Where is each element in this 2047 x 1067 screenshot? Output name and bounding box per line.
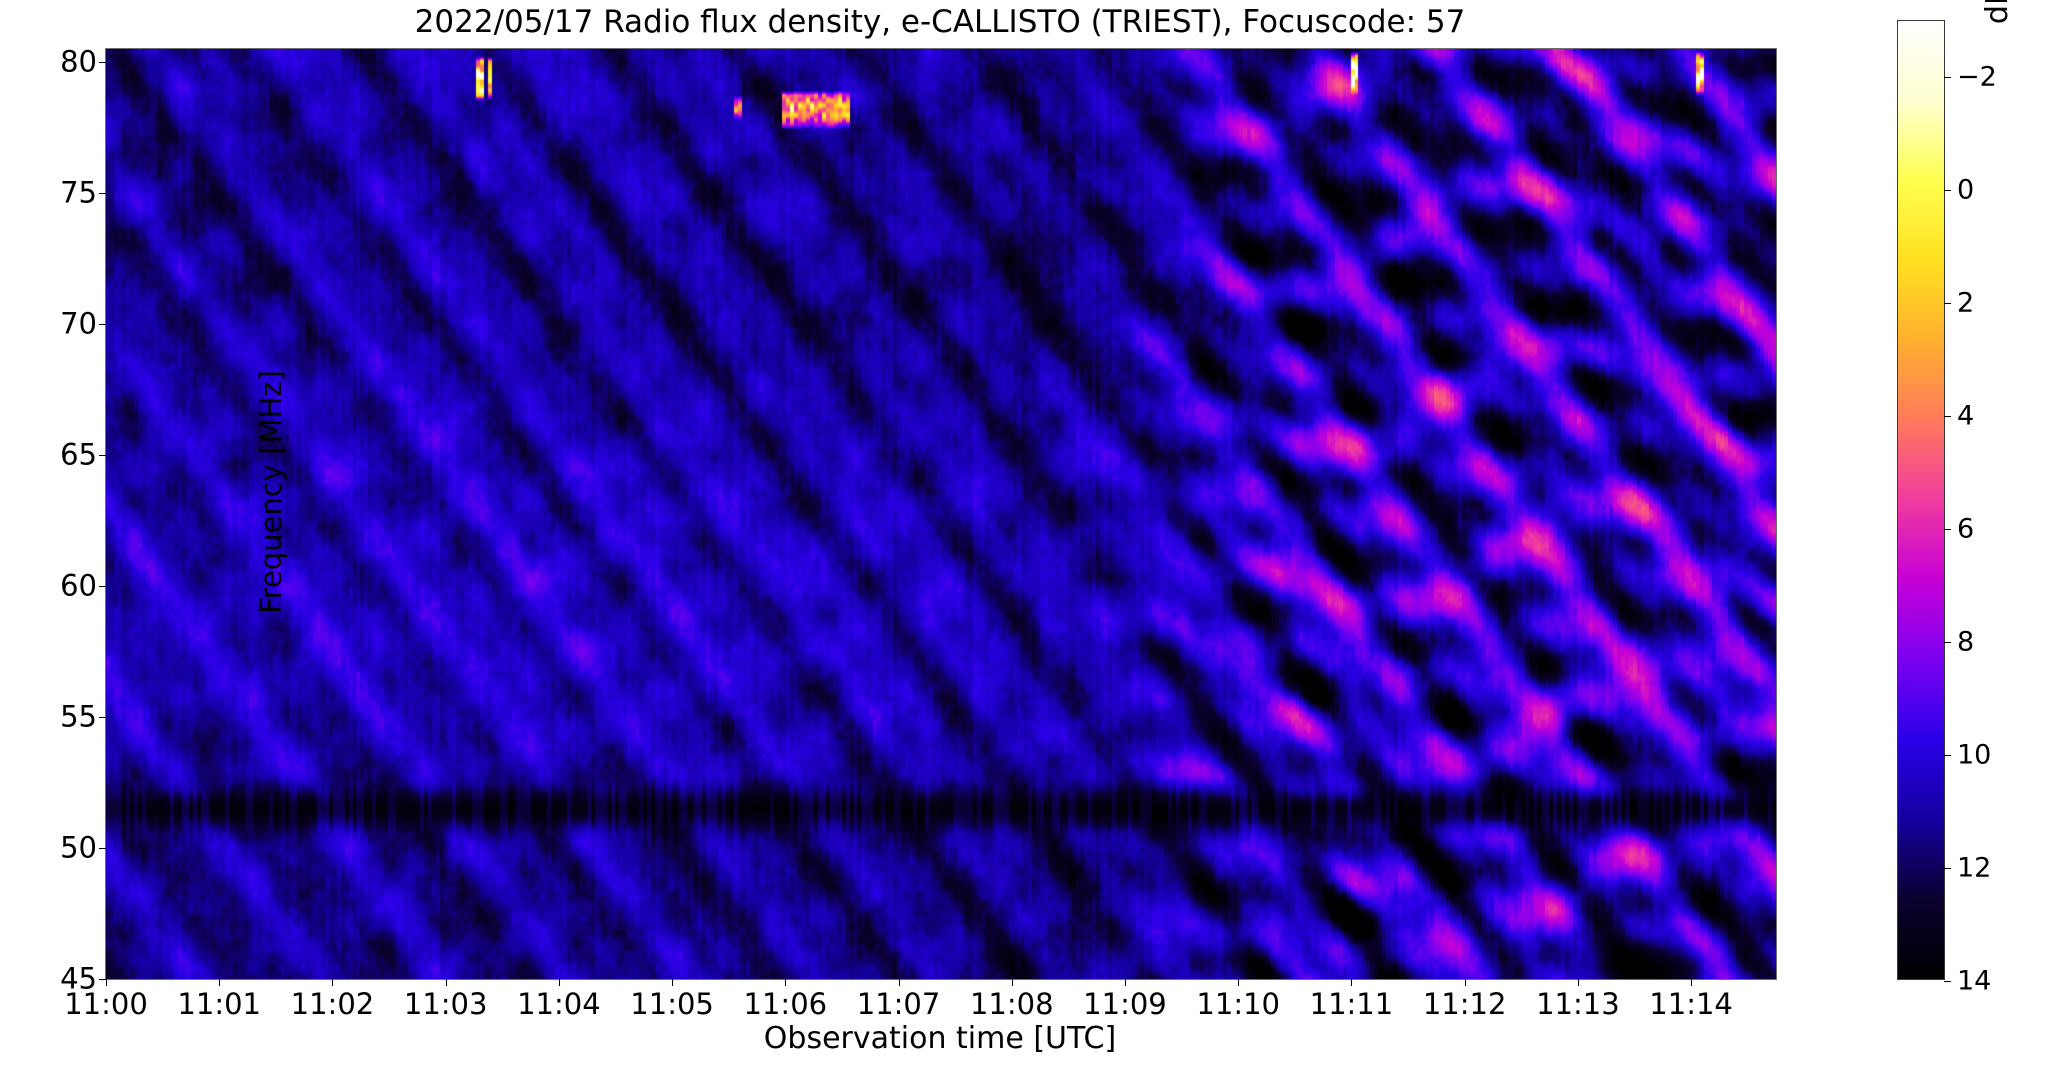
y-tick-mark: [99, 324, 106, 325]
colorbar-label-text: dB above background: [1980, 0, 2016, 180]
x-tick-mark: [106, 979, 107, 986]
colorbar-tick-label: 8: [1957, 629, 1974, 656]
x-tick-label: 11:07: [857, 990, 941, 1019]
x-tick-label: 11:11: [1310, 990, 1394, 1019]
x-tick-mark: [219, 979, 220, 986]
y-tick-label: 55: [60, 703, 97, 732]
colorbar-tick-mark: [1944, 981, 1951, 982]
colorbar: 14121086420−2: [1897, 20, 1945, 980]
x-tick-label: 11:13: [1536, 990, 1620, 1019]
colorbar-tick-label: 12: [1957, 855, 1991, 882]
y-tick-mark: [99, 455, 106, 456]
colorbar-tick-mark: [1944, 77, 1951, 78]
x-tick-label: 11:08: [970, 990, 1054, 1019]
x-tick-mark: [559, 979, 560, 986]
x-tick-mark: [1012, 979, 1013, 986]
x-tick-mark: [1578, 979, 1579, 986]
colorbar-tick-mark: [1944, 755, 1951, 756]
colorbar-tick-label: 2: [1957, 290, 1974, 317]
page-title: 2022/05/17 Radio flux density, e-CALLIST…: [105, 4, 1775, 40]
y-tick-label: 80: [60, 48, 97, 77]
x-tick-label: 11:00: [64, 990, 148, 1019]
y-tick-mark: [99, 62, 106, 63]
y-tick-label: 75: [60, 179, 97, 208]
colorbar-tick-label: 6: [1957, 516, 1974, 543]
x-tick-label: 11:10: [1196, 990, 1280, 1019]
y-tick-mark: [99, 848, 106, 849]
colorbar-tick-label: 0: [1957, 177, 1974, 204]
x-tick-mark: [1238, 979, 1239, 986]
x-tick-mark: [1351, 979, 1352, 986]
x-tick-mark: [1465, 979, 1466, 986]
y-tick-mark: [99, 586, 106, 587]
x-tick-mark: [1125, 979, 1126, 986]
y-tick-label: 50: [60, 834, 97, 863]
x-tick-mark: [446, 979, 447, 986]
spectrogram-plot-area: Frequency [MHz] 8075706560555045 11:0011…: [105, 48, 1777, 980]
colorbar-label: dB above background: [1980, 0, 2016, 180]
colorbar-tick-mark: [1944, 416, 1951, 417]
x-tick-mark: [785, 979, 786, 986]
y-tick-label: 60: [60, 572, 97, 601]
colorbar-tick-mark: [1944, 642, 1951, 643]
y-axis-label: Frequency [MHz]: [254, 312, 288, 672]
x-tick-label: 11:06: [744, 990, 828, 1019]
x-tick-label: 11:02: [291, 990, 375, 1019]
y-tick-label: 65: [60, 441, 97, 470]
x-tick-label: 11:03: [404, 990, 488, 1019]
x-tick-mark: [332, 979, 333, 986]
spectrogram-image: [106, 49, 1776, 979]
x-tick-label: 11:12: [1423, 990, 1507, 1019]
colorbar-tick-label: 14: [1957, 968, 1991, 995]
x-tick-label: 11:14: [1649, 990, 1733, 1019]
spectrogram-figure: 2022/05/17 Radio flux density, e-CALLIST…: [0, 0, 2047, 1067]
colorbar-tick-label: 10: [1957, 742, 1991, 769]
y-tick-mark: [99, 979, 106, 980]
colorbar-tick-label: 4: [1957, 403, 1974, 430]
x-tick-label: 11:05: [630, 990, 714, 1019]
x-axis-label: Observation time [UTC]: [105, 1021, 1775, 1056]
x-tick-mark: [899, 979, 900, 986]
y-tick-mark: [99, 193, 106, 194]
colorbar-tick-mark: [1944, 190, 1951, 191]
colorbar-tick-mark: [1944, 529, 1951, 530]
colorbar-tick-mark: [1944, 303, 1951, 304]
x-tick-label: 11:09: [1083, 990, 1167, 1019]
y-tick-mark: [99, 717, 106, 718]
x-tick-mark: [672, 979, 673, 986]
colorbar-gradient: [1898, 21, 1944, 979]
x-tick-label: 11:04: [517, 990, 601, 1019]
x-tick-label: 11:01: [177, 990, 261, 1019]
x-tick-mark: [1691, 979, 1692, 986]
y-tick-label: 70: [60, 310, 97, 339]
colorbar-tick-mark: [1944, 868, 1951, 869]
